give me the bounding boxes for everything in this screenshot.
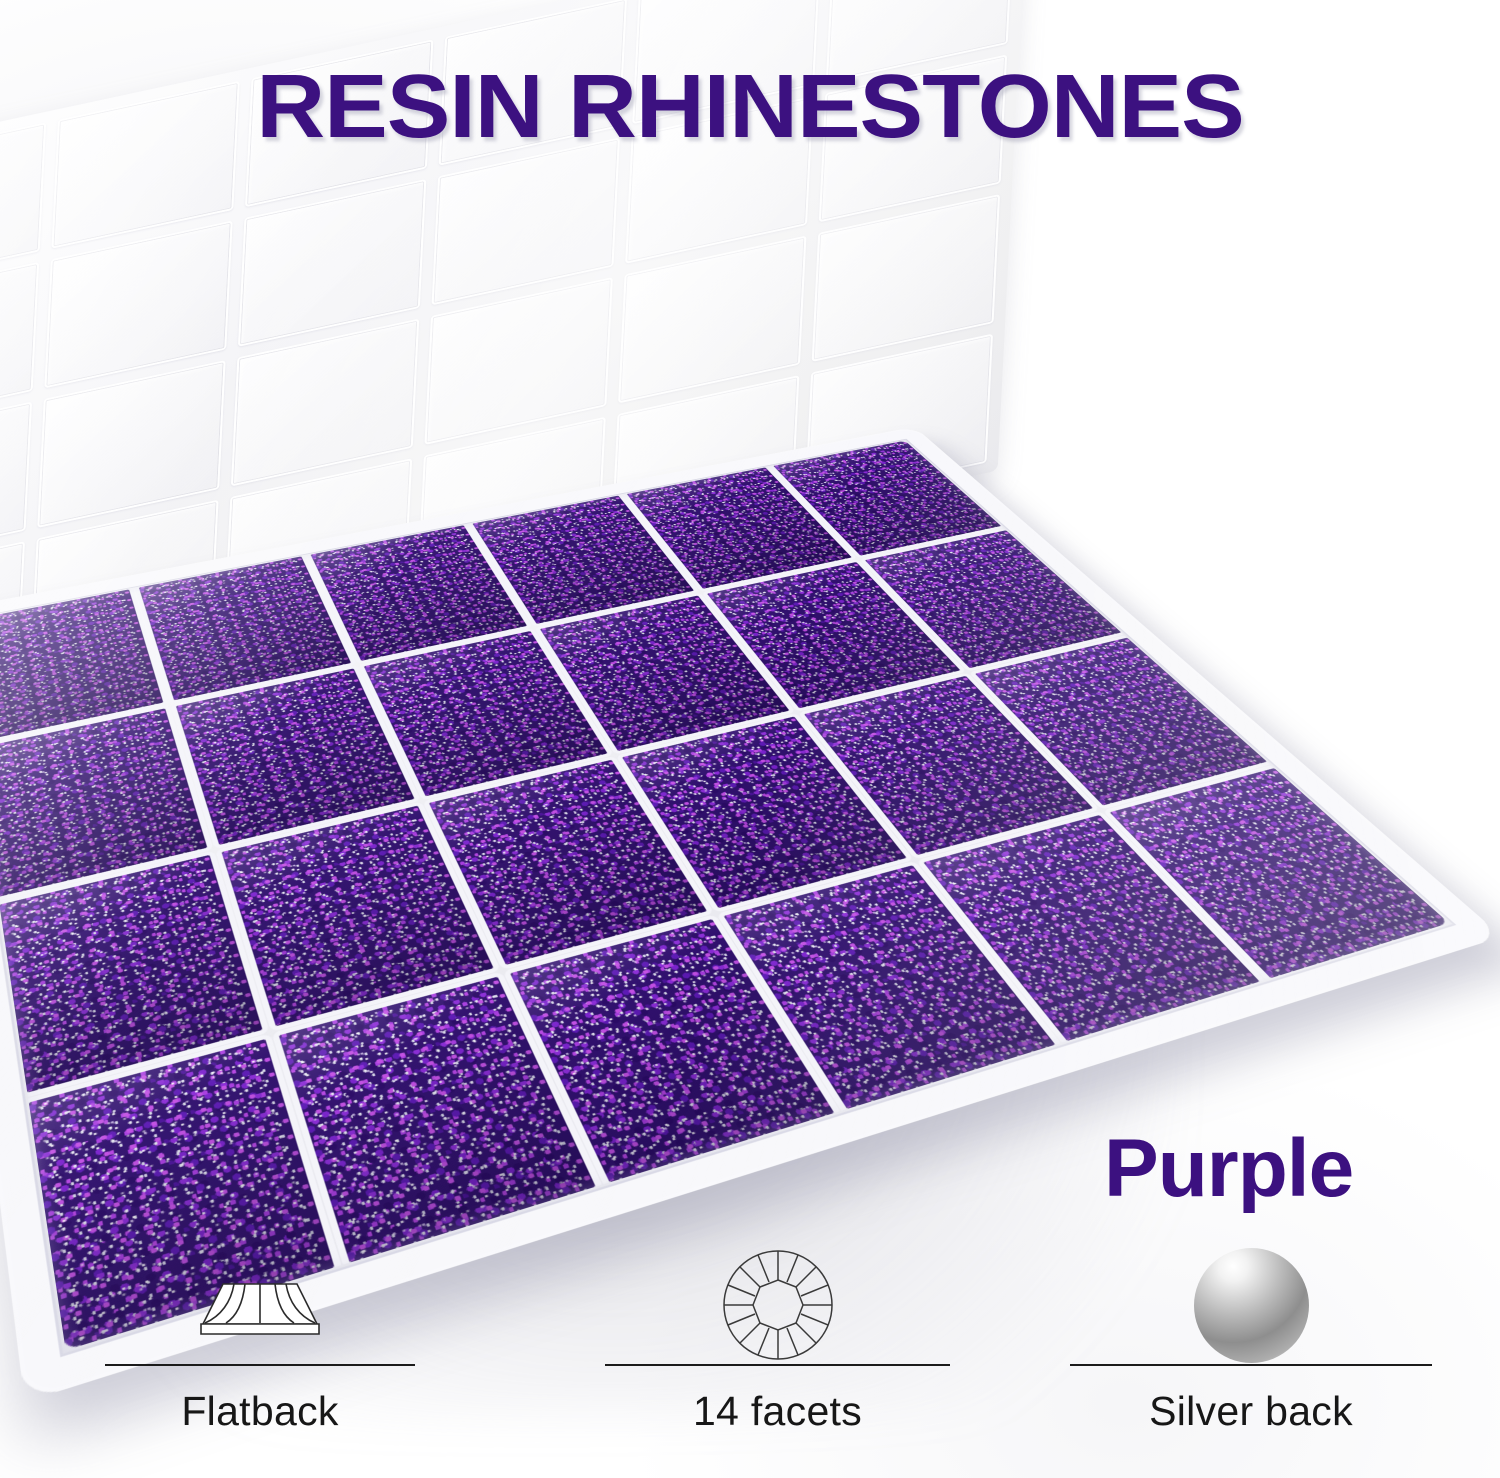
feature-divider [605,1364,950,1366]
silver-back-icon [1194,1246,1309,1364]
silver-disc [1194,1248,1309,1363]
flatback-icon [193,1246,327,1364]
feature-label: Silver back [1149,1388,1353,1435]
feature-facets: 14 facets [605,1246,950,1478]
color-label: Purple [1104,1128,1353,1210]
feature-silver-back: Silver back [1070,1246,1432,1478]
product-photo [0,198,1286,1302]
facets-icon [719,1246,837,1364]
product-image-canvas: RESIN RHINESTONES Purple Flatback [0,0,1500,1478]
feature-divider [1070,1364,1432,1366]
feature-divider [105,1364,415,1366]
feature-label: 14 facets [693,1388,862,1435]
container-tray-wrapper [0,229,1235,1282]
feature-label: Flatback [181,1388,338,1435]
feature-row: Flatback [0,1246,1500,1478]
page-title: RESIN RHINESTONES [0,62,1500,152]
feature-flatback: Flatback [105,1246,415,1478]
